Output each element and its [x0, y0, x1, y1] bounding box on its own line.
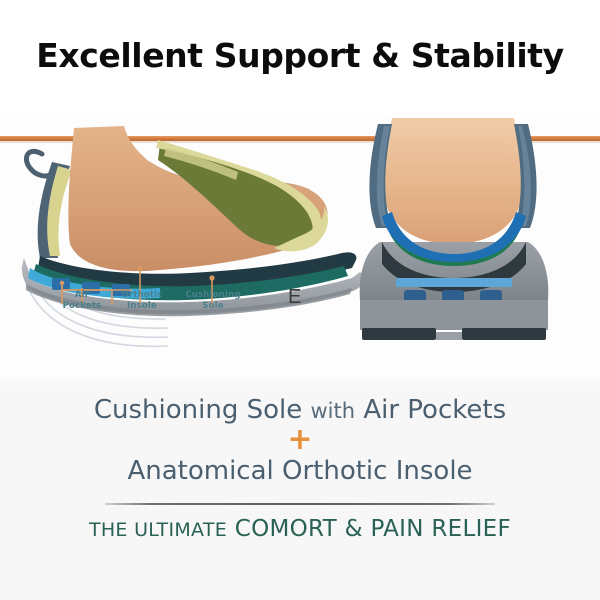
callout-label-orthotic-insole: Orthotic Insole — [110, 290, 174, 312]
header-band: Excellent Support & Stability — [0, 0, 600, 118]
tagline: THE ULTIMATE COMORT & PAIN RELIEF — [0, 516, 600, 542]
side-view-group — [22, 126, 364, 346]
sandal-illustration — [0, 118, 600, 370]
tagline-prefix: THE ULTIMATE — [89, 519, 227, 541]
callout-label-cushioning-sole: Cushioning Sole — [176, 290, 250, 312]
benefit-part-air-pockets: Air Pockets — [363, 395, 506, 425]
benefit-part-cushioning-sole: Cushioning Sole — [94, 395, 302, 425]
rear-view-group — [360, 118, 549, 340]
callout-line-2: Sole — [176, 301, 250, 312]
callout-line-1: Air — [52, 290, 112, 301]
rear-air-strip — [396, 278, 512, 287]
benefit-part-with: with — [311, 399, 356, 423]
callout-line-1: Cushioning — [176, 290, 250, 301]
divider-rule — [105, 503, 495, 505]
benefit-line-primary: Cushioning Sole with Air Pockets — [0, 395, 600, 425]
callout-line-2: Insole — [110, 301, 174, 312]
callout-label-air-pockets: Air Pockets — [52, 290, 112, 312]
benefit-line-secondary: Anatomical Orthotic Insole — [0, 456, 600, 486]
plus-sign: + — [0, 425, 600, 455]
promo-image: Excellent Support & Stability — [0, 0, 600, 600]
cropped-letter-text: E — [288, 286, 302, 309]
heel-tread-gap — [436, 332, 462, 340]
page-title: Excellent Support & Stability — [0, 36, 600, 75]
tagline-main: COMORT & PAIN RELIEF — [235, 516, 511, 542]
callout-line-1: Orthotic — [110, 290, 174, 301]
heel-skin — [384, 118, 521, 244]
heel-base — [360, 300, 548, 330]
callout-line-2: Pockets — [52, 301, 112, 312]
illustration-band — [0, 118, 600, 370]
copy-band-fade — [0, 370, 600, 392]
